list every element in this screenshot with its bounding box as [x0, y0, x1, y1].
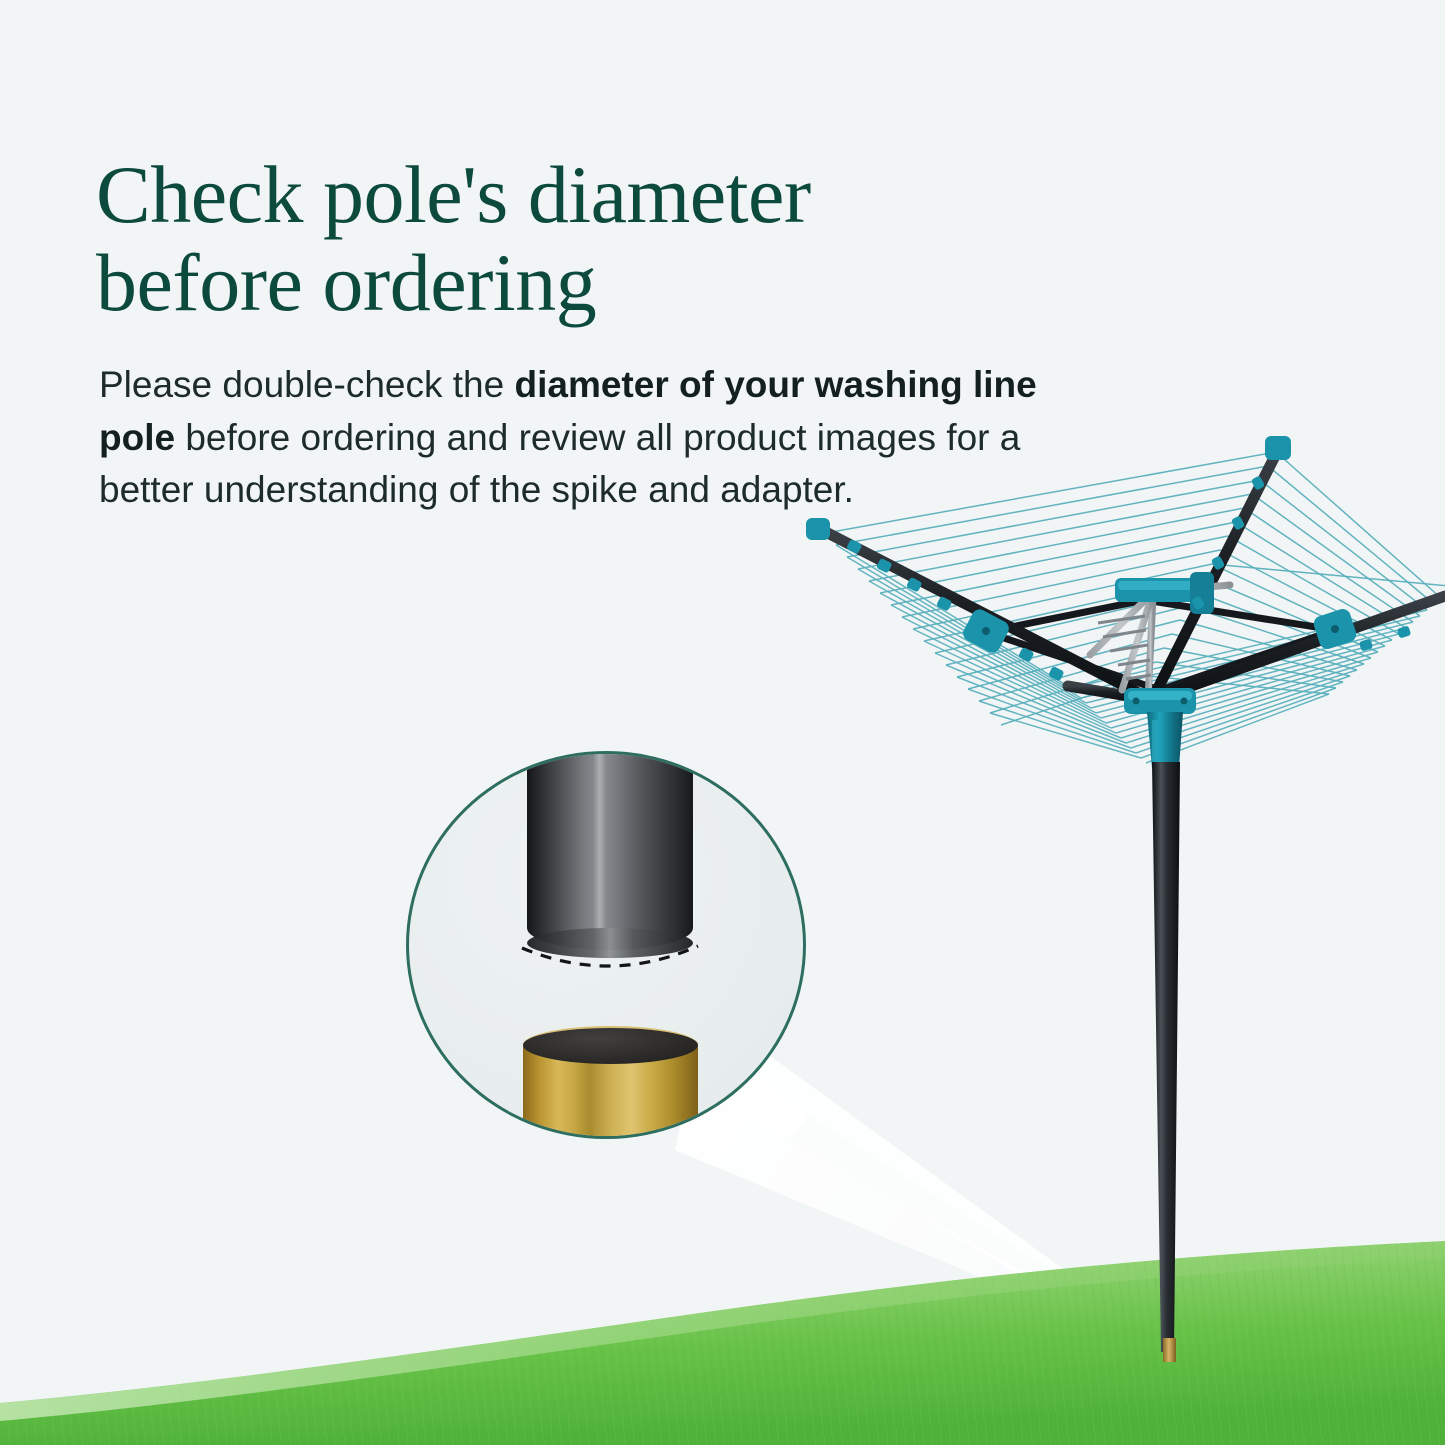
body-segment-1: Please double-check the: [99, 364, 515, 405]
clothes-lines-lower-left: [836, 545, 1141, 758]
inner-frame: [986, 600, 1335, 690]
arm-joint-detail: [982, 625, 1339, 635]
body-segment-2: before ordering and review all product i…: [99, 417, 1020, 511]
main-pole: [1152, 762, 1180, 1352]
page-title: Check pole's diameter before ordering: [96, 151, 996, 328]
arm-top: [1152, 446, 1280, 700]
support-braces: [1090, 585, 1230, 700]
body-paragraph: Please double-check the diameter of your…: [99, 359, 1089, 517]
page-root: Check pole's diameter before ordering Pl…: [0, 0, 1445, 1445]
arm-front: [1068, 686, 1152, 700]
pole-ground-tip: [1163, 1338, 1176, 1362]
brass-top-cap: [523, 1026, 698, 1064]
arm-right: [1152, 596, 1445, 700]
brass-adapter-cylinder: [523, 1026, 698, 1139]
dashed-alignment-arc: [519, 937, 701, 979]
clothes-lines-lower-right: [1071, 604, 1434, 763]
steel-pole-tube: [527, 751, 693, 950]
brace-rungs: [1098, 616, 1151, 679]
lawn-hill: [0, 1235, 1445, 1445]
pole-collar: [1147, 712, 1183, 768]
hub-bottom-connector: [1124, 688, 1196, 714]
steel-highlight: [593, 751, 606, 950]
arm-left: [818, 528, 1152, 700]
detail-circle-frame: [406, 751, 806, 1139]
hub-top-connector: [1115, 572, 1214, 614]
pole-diameter-detail-circle: [406, 751, 806, 1139]
clothes-lines-upper-right: [1148, 452, 1441, 694]
